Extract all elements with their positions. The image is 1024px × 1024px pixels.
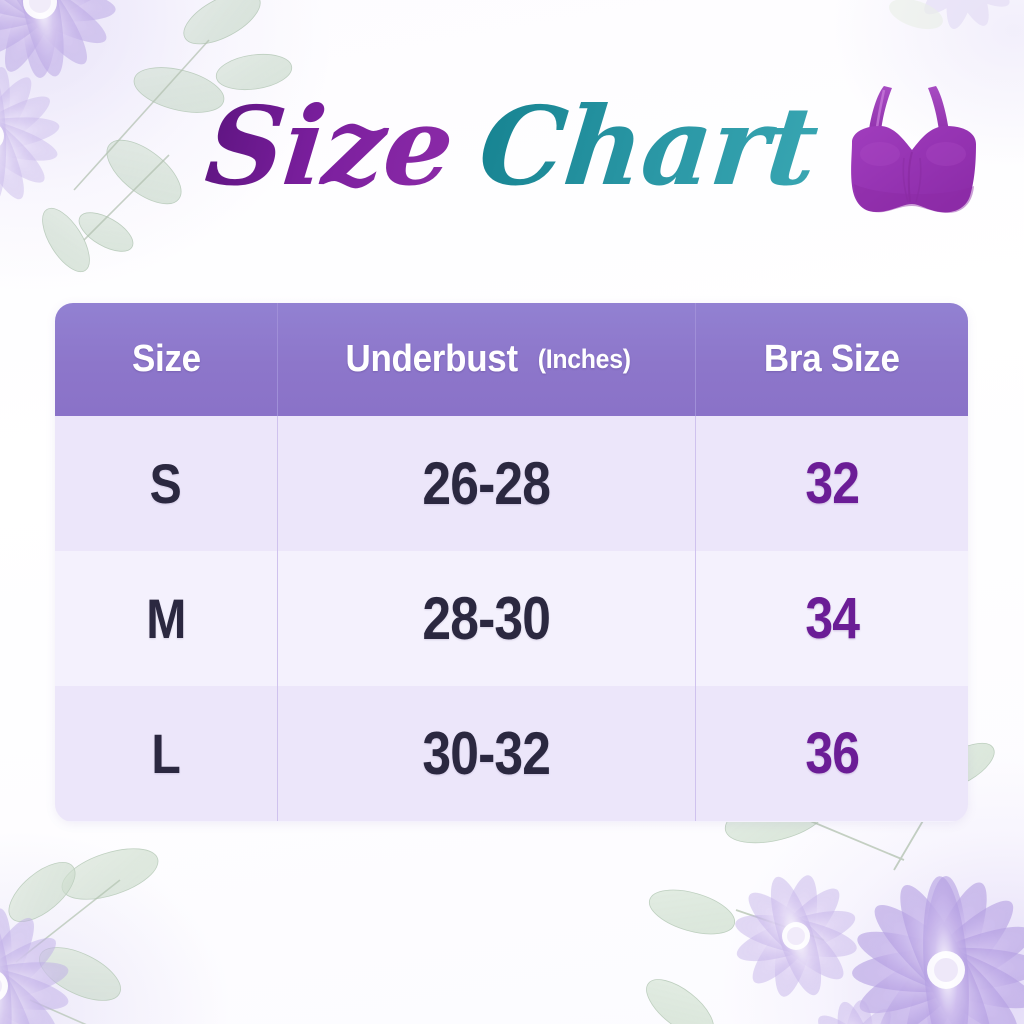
size-chart-page: SizeChart xyxy=(0,0,1024,1024)
cell-value-bra-size: 32 xyxy=(805,450,859,517)
table-header-row: Size Underbust (Inches) Bra Size xyxy=(55,303,968,416)
page-title-text: SizeChart xyxy=(202,93,823,201)
floral-decoration-bottom-left-icon xyxy=(0,794,290,1024)
table-row: M 28-30 34 xyxy=(55,551,968,686)
cell-value-underbust: 26-28 xyxy=(423,449,551,518)
table-header-cell-size: Size xyxy=(55,303,277,416)
column-header-underbust: Underbust xyxy=(346,338,518,381)
table-cell-bra-size: 34 xyxy=(695,551,968,686)
page-title-word-size: Size xyxy=(201,84,465,210)
cell-value-size: S xyxy=(150,451,182,516)
cell-value-underbust: 28-30 xyxy=(423,584,551,653)
cell-value-bra-size: 36 xyxy=(805,720,859,787)
table-cell-underbust: 26-28 xyxy=(277,416,695,551)
table-header-cell-bra-size: Bra Size xyxy=(695,303,968,416)
cell-value-size: L xyxy=(151,721,180,786)
table-header-cell-underbust: Underbust (Inches) xyxy=(277,303,695,416)
size-chart-table: Size Underbust (Inches) Bra Size S 26-28… xyxy=(55,303,968,822)
table-cell-size: L xyxy=(55,686,277,821)
bralette-illustration-icon xyxy=(828,78,1000,243)
column-header-size: Size xyxy=(132,338,201,381)
column-header-underbust-unit: (Inches) xyxy=(530,344,630,375)
table-cell-size: S xyxy=(55,416,277,551)
table-row: L 30-32 36 xyxy=(55,686,968,821)
page-title-word-chart: Chart xyxy=(452,84,823,210)
table-cell-size: M xyxy=(55,551,277,686)
table-cell-bra-size: 36 xyxy=(695,686,968,821)
table-cell-underbust: 30-32 xyxy=(277,686,695,821)
cell-value-underbust: 30-32 xyxy=(423,719,551,788)
cell-value-bra-size: 34 xyxy=(805,585,859,652)
cell-value-size: M xyxy=(146,586,186,651)
table-row: S 26-28 32 xyxy=(55,416,968,551)
table-cell-underbust: 28-30 xyxy=(277,551,695,686)
table-cell-bra-size: 32 xyxy=(695,416,968,551)
column-header-bra-size: Bra Size xyxy=(764,338,900,381)
